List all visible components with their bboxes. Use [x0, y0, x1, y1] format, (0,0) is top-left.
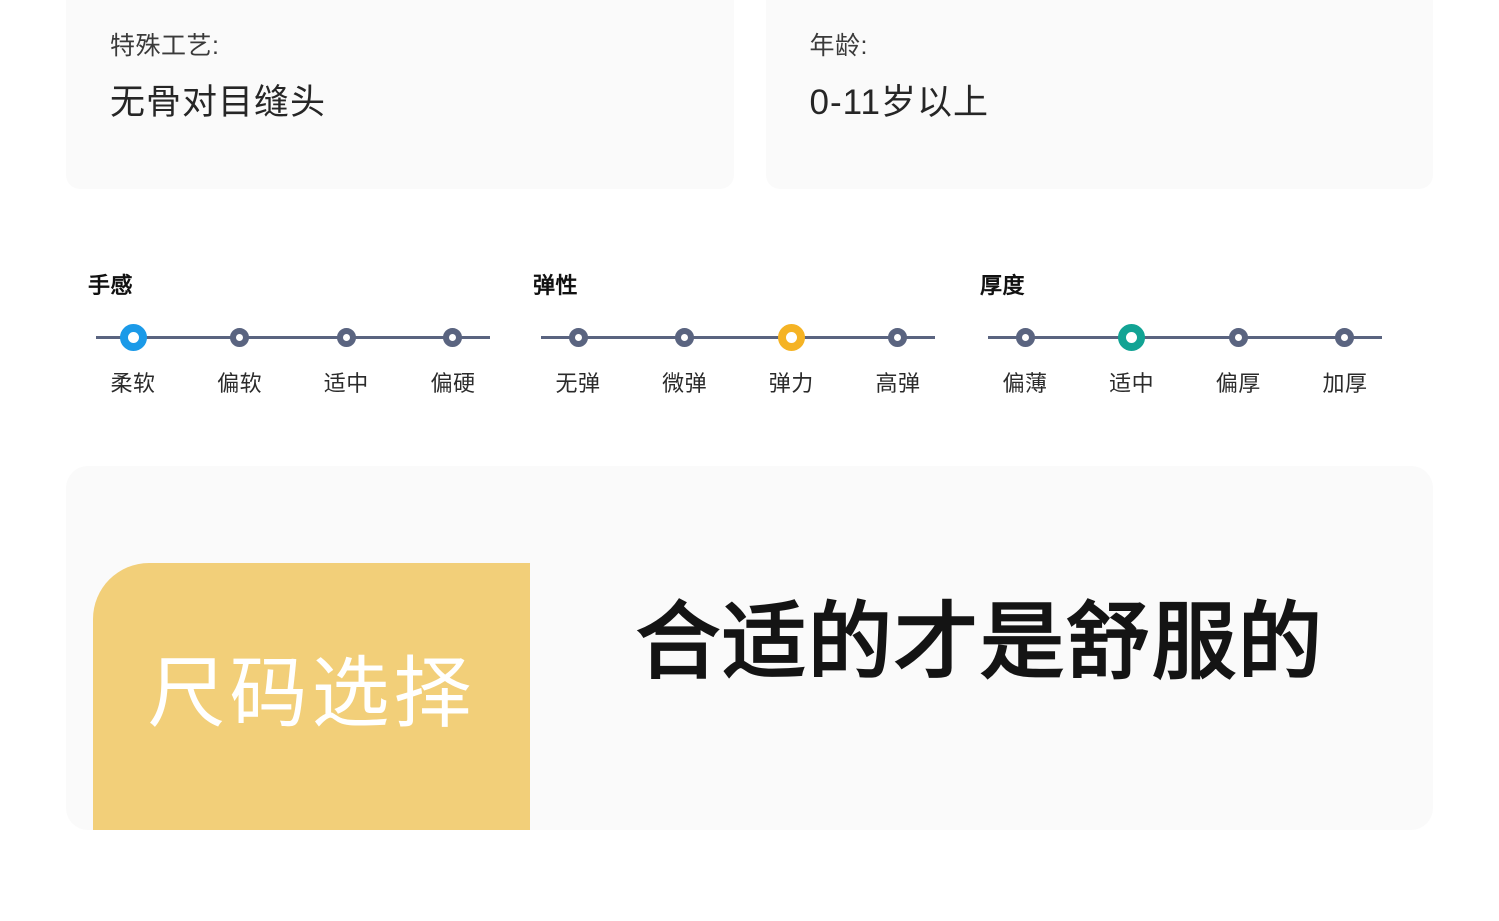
- scale-handfeel-label-3[interactable]: 偏硬: [408, 366, 498, 398]
- scale-thickness: 厚度 偏薄 适中 偏厚 加厚: [980, 268, 1425, 398]
- spec-card-age-value: 0-11岁以上: [810, 80, 1434, 126]
- scale-dot-icon[interactable]: [230, 328, 249, 347]
- size-selection-tag: 尺码选择: [93, 563, 530, 830]
- scale-handfeel-label-2[interactable]: 适中: [301, 366, 391, 398]
- scale-elasticity-label-1[interactable]: 微弹: [640, 366, 730, 398]
- scale-dot-icon[interactable]: [337, 328, 356, 347]
- scale-thickness-dot-slot-3[interactable]: [1300, 320, 1390, 354]
- scale-handfeel-dot-slot-0[interactable]: [88, 320, 178, 354]
- spec-card-craft-value: 无骨对目缝头: [110, 80, 734, 126]
- scale-elasticity-dot-slot-1[interactable]: [640, 320, 730, 354]
- scale-thickness-label-2[interactable]: 偏厚: [1193, 366, 1283, 398]
- spec-cards: 特殊工艺: 无骨对目缝头 年龄: 0-11岁以上: [66, 0, 1433, 189]
- scale-elasticity-labels: 无弹 微弹 弹力 高弹: [533, 366, 943, 398]
- scale-elasticity-title: 弹性: [533, 268, 978, 300]
- scale-dot-icon[interactable]: [569, 328, 588, 347]
- scale-thickness-label-0[interactable]: 偏薄: [980, 366, 1070, 398]
- spec-card-age-label: 年龄:: [810, 30, 1434, 64]
- scale-thickness-track[interactable]: [980, 320, 1390, 354]
- scale-thickness-title: 厚度: [980, 268, 1425, 300]
- scale-dot-icon[interactable]: [888, 328, 907, 347]
- spec-card-craft-label: 特殊工艺:: [110, 30, 734, 64]
- scale-thickness-labels: 偏薄 适中 偏厚 加厚: [980, 366, 1390, 398]
- scale-dot-active-icon[interactable]: [1118, 324, 1145, 351]
- scale-elasticity-track[interactable]: [533, 320, 943, 354]
- scale-dot-icon[interactable]: [1016, 328, 1035, 347]
- scale-thickness-dots: [980, 320, 1390, 354]
- spec-card-age: 年龄: 0-11岁以上: [766, 0, 1434, 189]
- scale-handfeel-label-1[interactable]: 偏软: [195, 366, 285, 398]
- scale-handfeel-label-0[interactable]: 柔软: [88, 366, 178, 398]
- scale-elasticity-dots: [533, 320, 943, 354]
- scale-elasticity-label-0[interactable]: 无弹: [533, 366, 623, 398]
- size-headline-text: 合适的才是舒服的: [636, 600, 1324, 684]
- scale-handfeel-dots: [88, 320, 498, 354]
- scale-elasticity-dot-slot-2[interactable]: [746, 320, 836, 354]
- scale-thickness-dot-slot-2[interactable]: [1193, 320, 1283, 354]
- scale-elasticity-dot-slot-0[interactable]: [533, 320, 623, 354]
- scale-handfeel: 手感 柔软 偏软 适中 偏硬: [88, 268, 533, 398]
- scale-handfeel-title: 手感: [88, 268, 533, 300]
- scale-elasticity: 弹性 无弹 微弹 弹力 高弹: [533, 268, 978, 398]
- scale-thickness-label-3[interactable]: 加厚: [1300, 366, 1390, 398]
- scale-dot-active-icon[interactable]: [120, 324, 147, 351]
- scale-handfeel-labels: 柔软 偏软 适中 偏硬: [88, 366, 498, 398]
- scale-thickness-dot-slot-0[interactable]: [980, 320, 1070, 354]
- scale-dot-icon[interactable]: [1335, 328, 1354, 347]
- scale-handfeel-track[interactable]: [88, 320, 498, 354]
- scale-elasticity-dot-slot-3[interactable]: [853, 320, 943, 354]
- spec-card-craft: 特殊工艺: 无骨对目缝头: [66, 0, 734, 189]
- scale-handfeel-dot-slot-3[interactable]: [408, 320, 498, 354]
- size-selection-banner: 尺码选择 合适的才是舒服的: [66, 466, 1433, 830]
- scale-handfeel-dot-slot-1[interactable]: [195, 320, 285, 354]
- scale-elasticity-label-3[interactable]: 高弹: [853, 366, 943, 398]
- scale-dot-icon[interactable]: [675, 328, 694, 347]
- scale-thickness-dot-slot-1[interactable]: [1087, 320, 1177, 354]
- scale-thickness-label-1[interactable]: 适中: [1087, 366, 1177, 398]
- attribute-scales: 手感 柔软 偏软 适中 偏硬: [0, 268, 1499, 398]
- size-selection-tag-label: 尺码选择: [147, 654, 475, 732]
- size-headline: 合适的才是舒服的: [636, 466, 1324, 830]
- scale-dot-active-icon[interactable]: [778, 324, 805, 351]
- scale-handfeel-dot-slot-2[interactable]: [301, 320, 391, 354]
- scale-dot-icon[interactable]: [443, 328, 462, 347]
- scale-dot-icon[interactable]: [1229, 328, 1248, 347]
- scale-elasticity-label-2[interactable]: 弹力: [746, 366, 836, 398]
